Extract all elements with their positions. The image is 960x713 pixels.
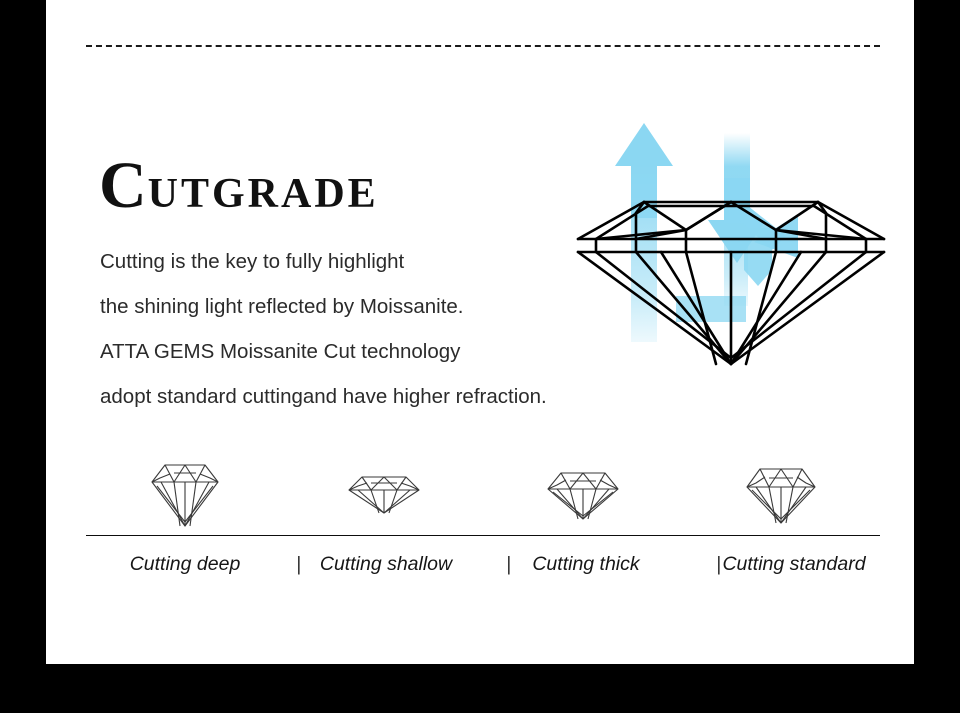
diamond-shallow-icon bbox=[285, 450, 483, 536]
light-ray-group bbox=[615, 123, 798, 342]
slide-page: CUTGRADE Cutting is the key to fully hig… bbox=[46, 0, 914, 664]
cut-grade-icon-row bbox=[86, 450, 880, 540]
intro-line-4: adopt standard cuttingand have higher re… bbox=[100, 374, 660, 419]
page-title-rest: UTGRADE bbox=[148, 171, 379, 217]
diamond-thick-icon bbox=[484, 450, 682, 536]
cut-grade-item-cutting-standard[interactable] bbox=[682, 450, 880, 540]
caption-cutting-standard[interactable]: Cutting standard bbox=[694, 553, 894, 576]
diamond-deep-icon bbox=[86, 450, 284, 536]
cut-grade-item-cutting-deep[interactable] bbox=[86, 450, 284, 540]
caption-cutting-shallow[interactable]: Cutting shallow bbox=[291, 553, 481, 576]
cut-grade-item-cutting-thick[interactable] bbox=[484, 450, 682, 540]
cut-grade-caption-row: Cutting deep | Cutting shallow | Cutting… bbox=[86, 549, 886, 585]
caption-divider bbox=[86, 535, 880, 536]
caption-cutting-deep[interactable]: Cutting deep bbox=[90, 553, 280, 576]
diamond-standard-icon bbox=[682, 450, 880, 536]
cut-grade-item-cutting-shallow[interactable] bbox=[285, 450, 483, 540]
diamond-light-path-illustration bbox=[576, 118, 886, 368]
top-dashed-divider bbox=[86, 45, 880, 47]
caption-cutting-thick[interactable]: Cutting thick bbox=[491, 553, 681, 576]
page-title-initial: C bbox=[99, 149, 148, 222]
page-title: CUTGRADE bbox=[99, 153, 379, 219]
